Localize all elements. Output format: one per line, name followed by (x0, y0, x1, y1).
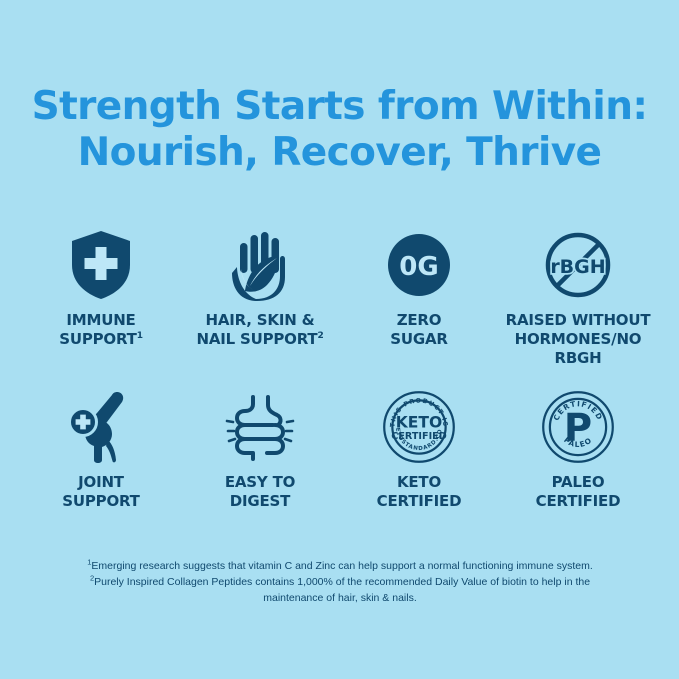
benefit-label-line-2: CERTIFIED (377, 492, 462, 510)
zero-grams-circle-icon: 0G (386, 228, 452, 302)
no-rbgh-icon: rBGH (543, 228, 613, 302)
footnote-marker: 2 (317, 331, 323, 341)
benefit-label-line-1: ZERO (397, 311, 442, 329)
intestine-icon (223, 390, 297, 464)
benefit-label: IMMUNE SUPPORT1 (59, 311, 143, 349)
headline-line-2: Nourish, Recover, Thrive (0, 130, 679, 176)
benefit-label-line-2: DIGEST (230, 492, 290, 510)
infographic-page: Strength Starts from Within: Nourish, Re… (0, 0, 679, 679)
footnote-1-text: Emerging research suggests that vitamin … (91, 560, 592, 572)
footnote-2-text: Purely Inspired Collagen Peptides contai… (94, 576, 590, 604)
paleo-seal-letter: P (564, 405, 592, 450)
footnote-2: 2Purely Inspired Collagen Peptides conta… (60, 574, 620, 606)
benefit-keto-certified: THIS PRODUCT IS KETOSTANDARD.COM KETO CE… (340, 390, 498, 511)
footnotes: 1Emerging research suggests that vitamin… (60, 558, 620, 606)
benefit-row-2: JOINT SUPPORT (22, 390, 657, 511)
benefit-easy-to-digest: EASY TO DIGEST (181, 390, 339, 511)
benefit-label-line-1: PALEO (552, 473, 605, 491)
page-title: Strength Starts from Within: Nourish, Re… (0, 84, 679, 176)
footnote-1: 1Emerging research suggests that vitamin… (60, 558, 620, 574)
benefit-label: RAISED WITHOUT HORMONES/NO RBGH (499, 311, 657, 368)
benefit-immune-support: IMMUNE SUPPORT1 (22, 228, 180, 349)
shield-cross-icon (68, 228, 134, 302)
benefit-label-line-2: NAIL SUPPORT (196, 330, 317, 348)
benefit-label: JOINT SUPPORT (62, 473, 139, 511)
benefit-label-line-2: CERTIFIED (536, 492, 621, 510)
benefit-label-line-1: IMMUNE (66, 311, 135, 329)
hand-leaf-icon (229, 228, 291, 302)
benefit-label-line-1: KETO (397, 473, 441, 491)
keto-seal-main-line-2: CERTIFIED (391, 431, 446, 442)
footnote-marker: 1 (137, 331, 143, 341)
benefit-label-line-2: HORMONES/NO RBGH (515, 330, 642, 367)
benefit-label-line-2: SUGAR (390, 330, 447, 348)
benefit-label: KETO CERTIFIED (377, 473, 462, 511)
benefit-no-rbgh: rBGH RAISED WITHOUT HORMONES/NO RBGH (499, 228, 657, 368)
joint-bone-icon (68, 390, 134, 464)
benefit-label: HAIR, SKIN & NAIL SUPPORT2 (196, 311, 323, 349)
benefit-label-line-1: RAISED WITHOUT (506, 311, 651, 329)
zero-grams-text: 0G (399, 252, 438, 282)
benefit-zero-sugar: 0G ZERO SUGAR (340, 228, 498, 349)
benefit-label-line-2: SUPPORT (59, 330, 136, 348)
rbgh-text: rBGH (550, 256, 605, 278)
benefit-label: EASY TO DIGEST (225, 473, 295, 511)
benefit-row-1: IMMUNE SUPPORT1 (22, 228, 657, 368)
keto-certified-seal-icon: THIS PRODUCT IS KETOSTANDARD.COM KETO CE… (382, 390, 456, 464)
benefit-label-line-1: JOINT (78, 473, 124, 491)
keto-seal-main-line-1: KETO (396, 414, 442, 432)
benefit-grid: IMMUNE SUPPORT1 (22, 228, 657, 511)
benefit-paleo-certified: CERTIFIED PALEO P PALEO CERTIFIED (499, 390, 657, 511)
benefit-label-line-1: EASY TO (225, 473, 295, 491)
benefit-label-line-2: SUPPORT (62, 492, 139, 510)
benefit-label: ZERO SUGAR (390, 311, 447, 349)
benefit-hair-skin-nail-support: HAIR, SKIN & NAIL SUPPORT2 (181, 228, 339, 349)
headline-line-1: Strength Starts from Within: (0, 84, 679, 130)
benefit-label-line-1: HAIR, SKIN & (206, 311, 315, 329)
benefit-label: PALEO CERTIFIED (536, 473, 621, 511)
benefit-joint-support: JOINT SUPPORT (22, 390, 180, 511)
paleo-certified-seal-icon: CERTIFIED PALEO P (541, 390, 615, 464)
